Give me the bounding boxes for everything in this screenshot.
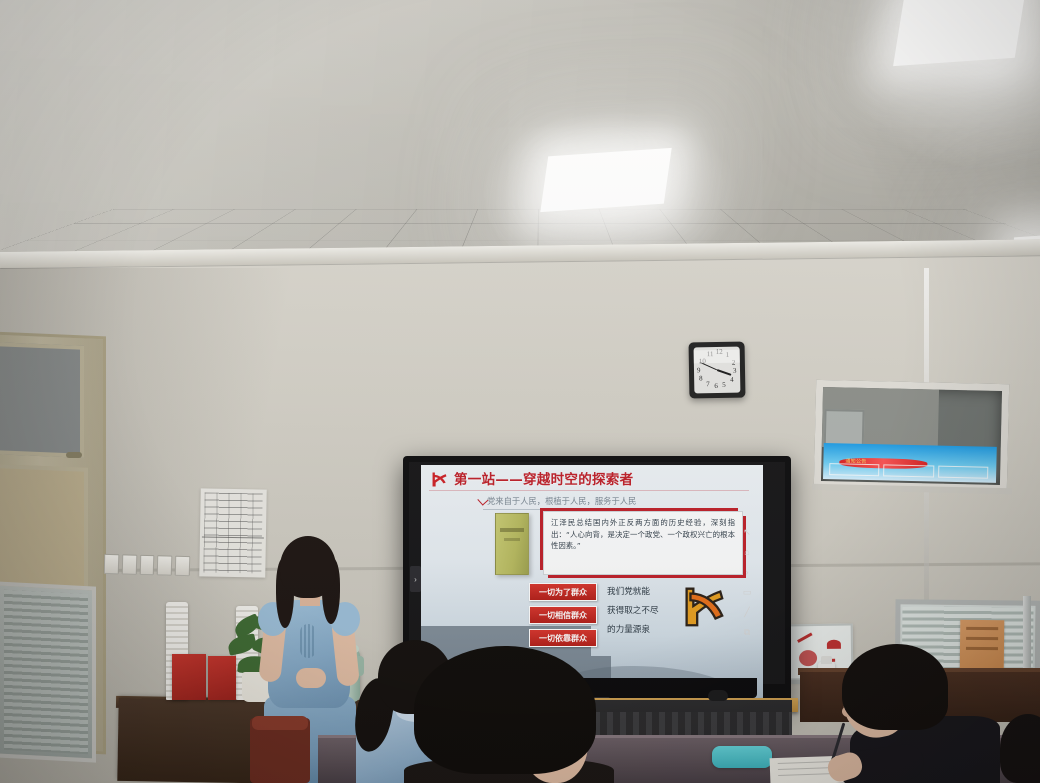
- back-arrow-icon[interactable]: ↖: [742, 527, 753, 538]
- whiteboard-mark: [799, 650, 817, 666]
- cpc-emblem-icon: [430, 471, 449, 488]
- slide-title-rule: [429, 490, 749, 491]
- presenter-dress-cinch: [300, 624, 316, 658]
- slide-quote-text: 江泽民总结国内外正反两方面的历史经验，深刻指出：“人心向背，是决定一个政党、一个…: [544, 512, 742, 552]
- clock-number: 8: [699, 374, 703, 382]
- attendee-hair: [842, 644, 948, 730]
- board-toolbar[interactable]: ↖ ⌂ › ▭ ╱ ⧉: [737, 527, 757, 638]
- banner-cards: [829, 463, 988, 479]
- slide-tag: 一切相信群众: [529, 606, 597, 624]
- chair-backrest[interactable]: [252, 716, 308, 730]
- slide-right-line: 获得取之不尽: [607, 604, 659, 616]
- slide-book-cover: [495, 513, 529, 575]
- clock-number: 5: [722, 381, 726, 389]
- cpc-emblem-gold-icon: [677, 581, 727, 631]
- computer-mouse[interactable]: [708, 690, 728, 701]
- whiteboard-mark: [797, 633, 812, 643]
- attendee-writing: [832, 644, 1000, 783]
- slide-tag: 一切为了群众: [529, 583, 597, 601]
- classroom-photo-scene: 12 1 2 3 4 5 6 7 8 9 10 11 通知公告: [0, 0, 1040, 783]
- clock-number: 4: [730, 376, 734, 384]
- slide-right-text: 我们党就能 获得取之不尽 的力量源泉: [607, 585, 659, 635]
- banner-card: [883, 464, 934, 477]
- adjacent-room-wall: [822, 387, 939, 450]
- clock-number: 3: [733, 367, 737, 375]
- attendee-foreground: [414, 646, 604, 783]
- board-side-tab[interactable]: ›: [410, 566, 421, 592]
- led-panel-light: [893, 0, 1027, 66]
- banner-card: [829, 463, 880, 476]
- chart-grid: [203, 492, 262, 573]
- led-panel-light: [540, 148, 671, 212]
- light-switch[interactable]: [175, 556, 190, 576]
- light-switch[interactable]: [104, 554, 119, 574]
- face-mask[interactable]: [712, 746, 772, 768]
- light-switch[interactable]: [122, 554, 137, 574]
- home-icon[interactable]: ⌂: [742, 547, 753, 558]
- slide-subtitle-underline: [483, 509, 669, 510]
- wall-clock: 12 1 2 3 4 5 6 7 8 9 10 11: [689, 342, 746, 399]
- banner-card: [938, 466, 989, 479]
- slide-tag-list: 一切为了群众 一切相信群众 一切依靠群众: [529, 583, 597, 647]
- interior-service-window: 通知公告: [814, 380, 1009, 492]
- clock-hour-hand: [717, 369, 732, 376]
- sanitizer-pump[interactable]: [821, 656, 832, 664]
- slide-title: 第一站——穿越时空的探索者: [454, 468, 633, 488]
- wall-switch-row[interactable]: [104, 554, 190, 576]
- light-switch[interactable]: [139, 555, 154, 575]
- red-gift-box[interactable]: [172, 654, 206, 700]
- slide-right-line: 的力量源泉: [607, 623, 659, 635]
- slide-subtitle: 党来自于人民，根植于人民，服务于人民: [487, 495, 636, 507]
- slide-tag: 一切依靠群众: [529, 629, 597, 647]
- slide-right-line: 我们党就能: [607, 585, 659, 597]
- presenter-hair: [280, 536, 336, 598]
- window-icon[interactable]: ▭: [742, 587, 753, 598]
- apps-icon[interactable]: ⧉: [742, 627, 753, 638]
- clock-number: 9: [697, 366, 701, 374]
- attendee-hair: [414, 646, 596, 774]
- light-switch[interactable]: [157, 555, 172, 575]
- adjacent-room-door: [824, 409, 865, 448]
- slide-quote-box: 江泽民总结国内外正反两方面的历史经验，深刻指出：“人心向背，是决定一个政党、一个…: [543, 511, 743, 575]
- chevron-right-icon[interactable]: ›: [742, 567, 753, 578]
- presenter-hands: [296, 668, 326, 688]
- clock-glass-reflection: [694, 350, 740, 364]
- adjacent-room-banner: 通知公告: [823, 443, 997, 483]
- clock-number: 6: [714, 382, 718, 390]
- clock-number: 7: [706, 380, 710, 388]
- pen-icon[interactable]: ╱: [742, 607, 753, 618]
